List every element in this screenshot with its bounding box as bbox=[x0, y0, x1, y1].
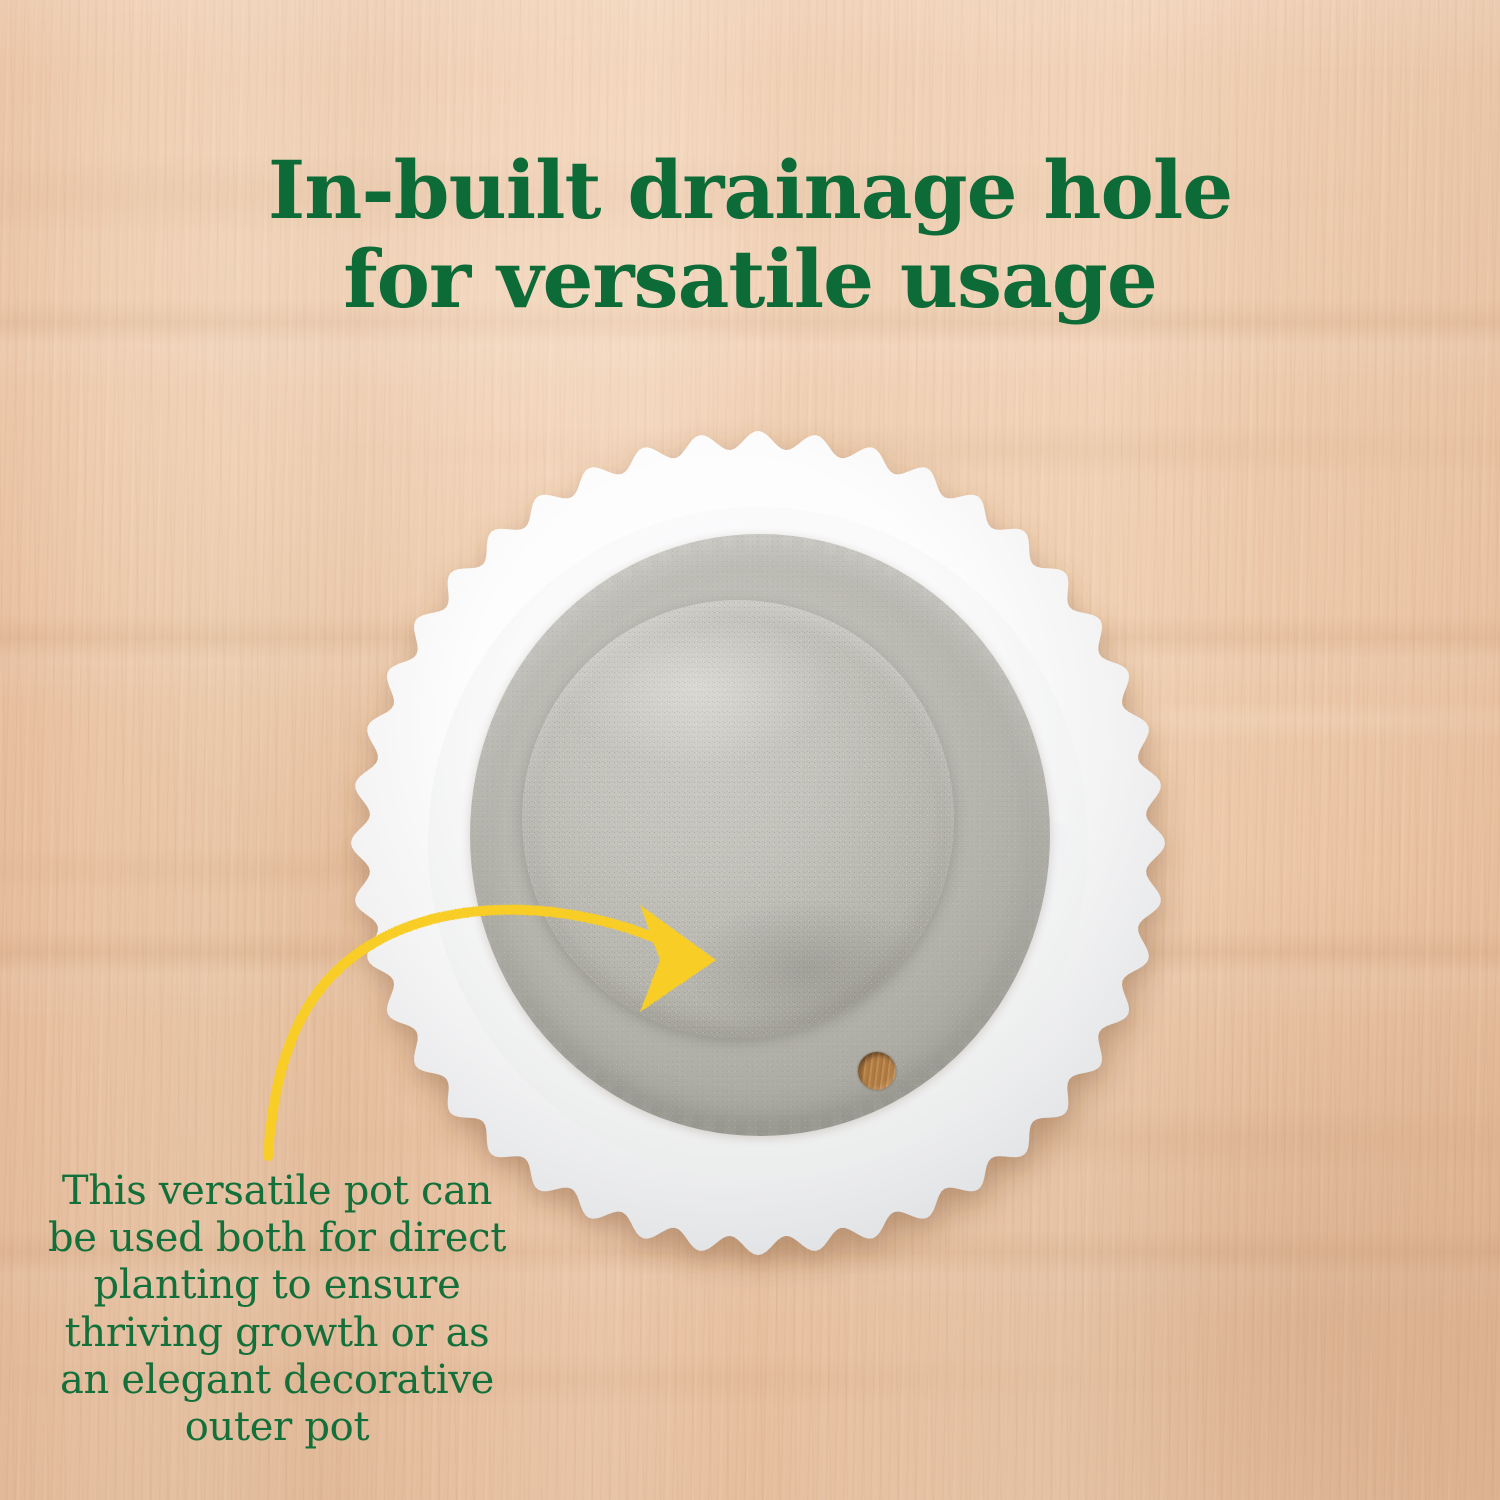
caption-line-4: thriving growth or as bbox=[42, 1310, 512, 1357]
plant-pot bbox=[352, 432, 1164, 1254]
caption-text: This versatile pot can be used both for … bbox=[42, 1168, 512, 1451]
caption-line-6: outer pot bbox=[42, 1404, 512, 1451]
caption-line-5: an elegant decorative bbox=[42, 1357, 512, 1404]
product-feature-graphic: In-built drainage hole for versatile usa… bbox=[0, 0, 1500, 1500]
drainage-hole bbox=[858, 1052, 896, 1090]
caption-line-1: This versatile pot can bbox=[42, 1168, 512, 1215]
interior-speckle-texture bbox=[470, 534, 1050, 1136]
headline-line-1: In-built drainage hole bbox=[268, 143, 1232, 237]
headline: In-built drainage hole for versatile usa… bbox=[0, 146, 1500, 325]
caption-line-3: planting to ensure bbox=[42, 1262, 512, 1309]
caption-line-2: be used both for direct bbox=[42, 1215, 512, 1262]
pot-interior bbox=[470, 534, 1050, 1136]
headline-line-2: for versatile usage bbox=[90, 235, 1410, 325]
